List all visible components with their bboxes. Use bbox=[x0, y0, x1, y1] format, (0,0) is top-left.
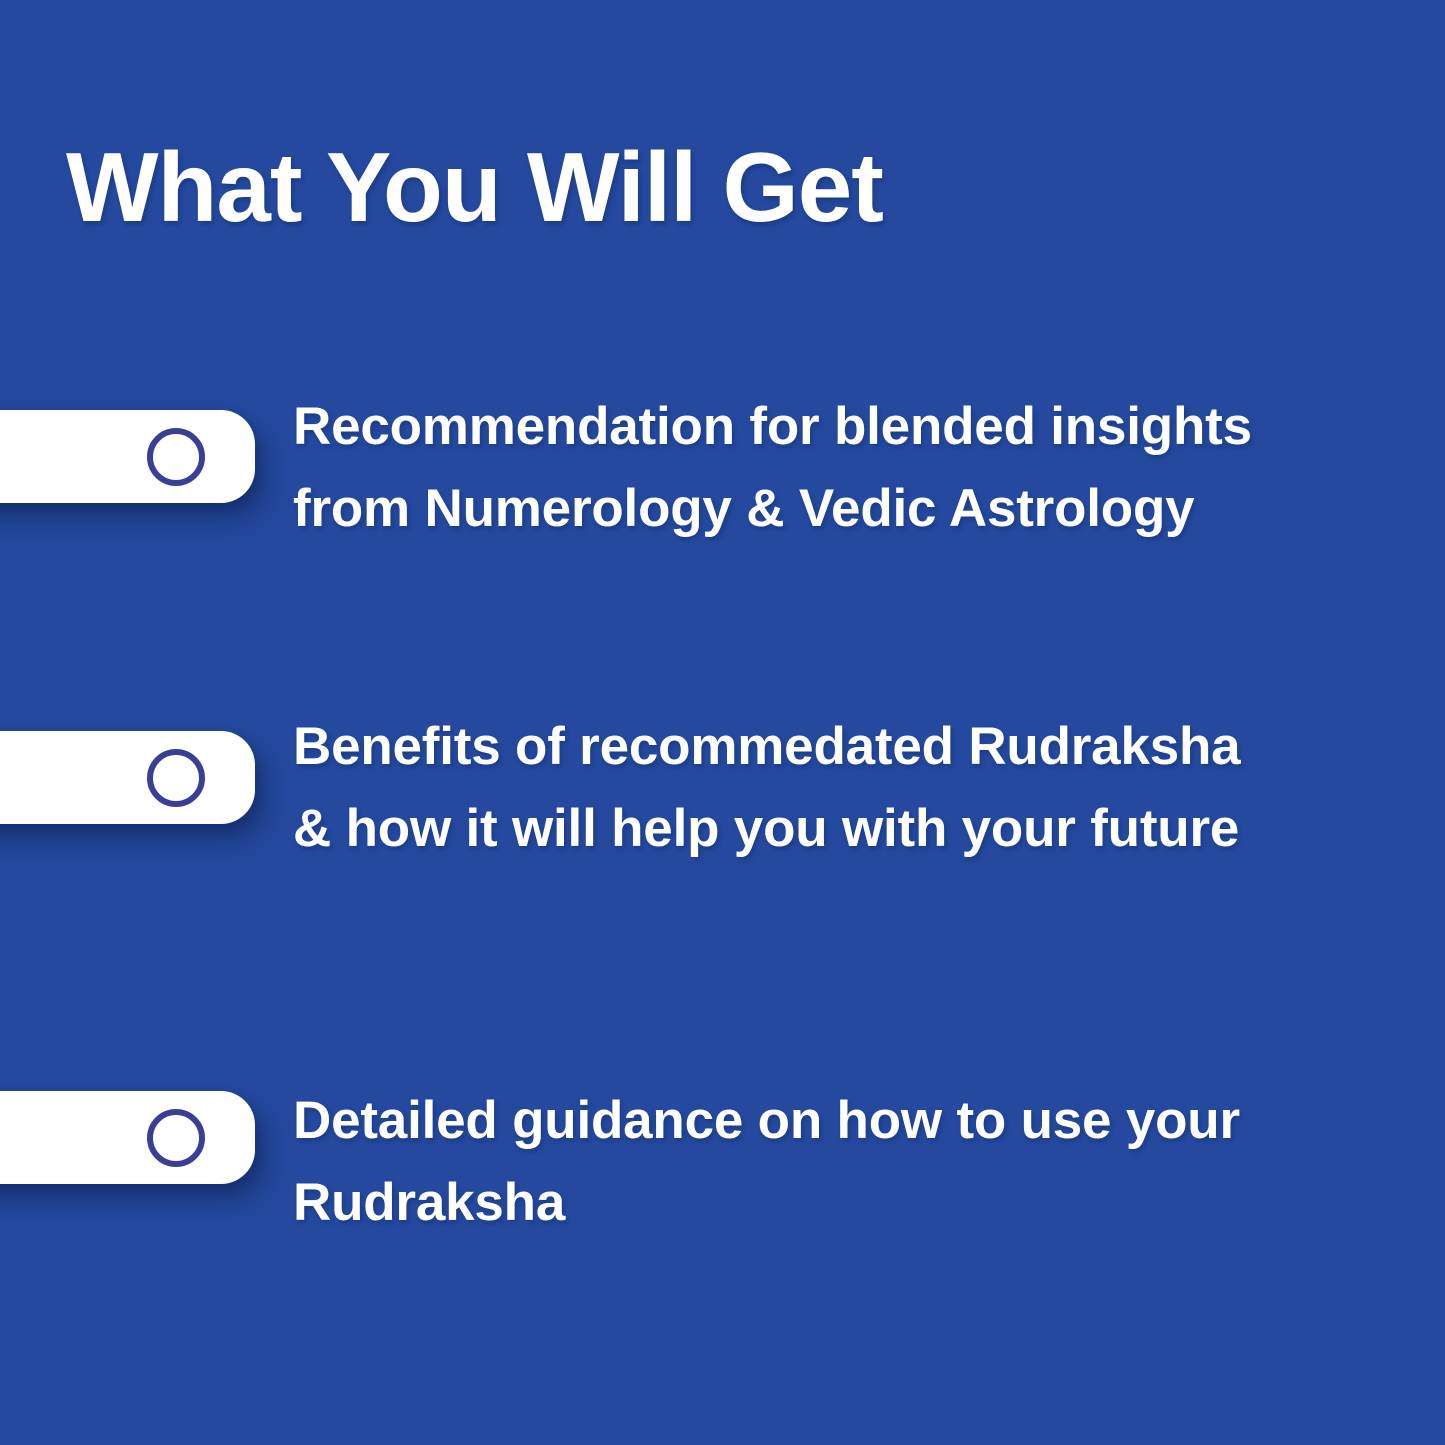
benefits-list: Recommendation for blended insights from… bbox=[0, 0, 1445, 1445]
bullet-marker-pill bbox=[0, 731, 255, 824]
bullet-text: Recommendation for blended insights from… bbox=[293, 386, 1273, 550]
circle-outline-icon bbox=[147, 428, 205, 486]
bullet-marker-pill bbox=[0, 410, 255, 503]
circle-outline-icon bbox=[147, 749, 205, 807]
bullet-text: Detailed guidance on how to use your Rud… bbox=[293, 1080, 1273, 1244]
circle-outline-icon bbox=[147, 1109, 205, 1167]
bullet-text: Benefits of recommedated Rudraksha & how… bbox=[293, 706, 1273, 870]
bullet-marker-pill bbox=[0, 1091, 255, 1184]
promo-card: What You Will Get Recommendation for ble… bbox=[0, 0, 1445, 1445]
